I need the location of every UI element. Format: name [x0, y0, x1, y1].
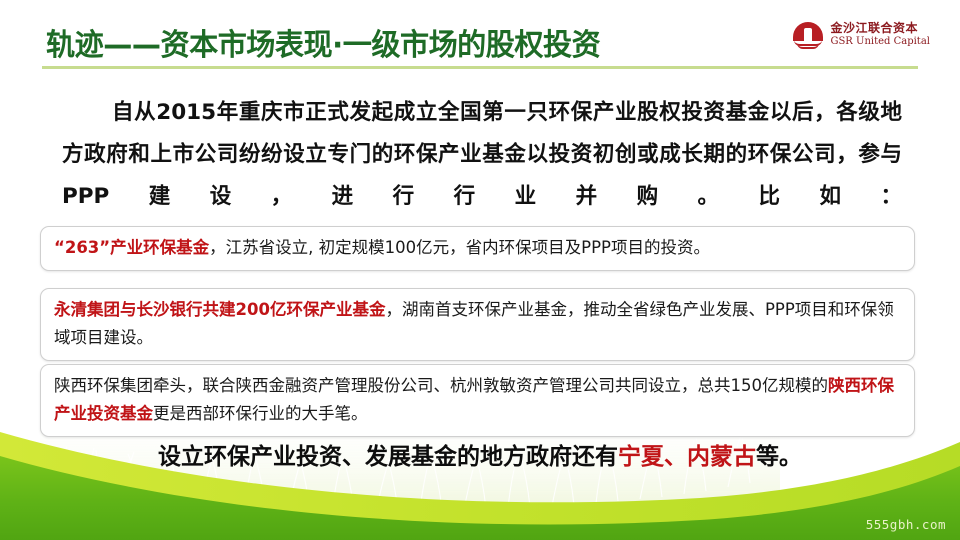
- slide-canvas: 555gbh.com 轨迹——资本市场表现·一级市场的股权投资 金沙江联合资本 …: [0, 0, 960, 540]
- logo-text-block: 金沙江联合资本 GSR United Capital: [830, 22, 930, 47]
- fact-box-3-text-0: 陕西环保集团牵头，联合陕西金融资产管理股份公司、杭州敦敏资产管理公司共同设立，总…: [54, 376, 828, 395]
- company-logo: 金沙江联合资本 GSR United Capital: [793, 22, 930, 48]
- conclusion-text-0: 设立环保产业投资、发展基金的地方政府还有: [158, 444, 618, 470]
- page-title: 轨迹——资本市场表现·一级市场的股权投资: [46, 20, 600, 64]
- fact-box-1-highlight-0: “263”产业环保基金: [54, 238, 209, 257]
- sunrise-wave-icon: [793, 22, 823, 48]
- watermark-text: 555gbh.com: [866, 517, 946, 532]
- conclusion-highlight-1: 宁夏、内蒙古: [618, 444, 756, 470]
- conclusion-text-2: 等。: [756, 444, 802, 470]
- fact-box: 永清集团与长沙银行共建200亿环保产业基金，湖南首支环保产业基金，推动全省绿色产…: [40, 288, 915, 361]
- fact-box-2-highlight-0: 永清集团与长沙银行共建200亿环保产业基金: [54, 300, 385, 319]
- logo-name-en: GSR United Capital: [830, 36, 930, 48]
- logo-name-cn: 金沙江联合资本: [830, 22, 930, 36]
- fact-box: “263”产业环保基金，江苏省设立, 初定规模100亿元，省内环保项目及PPP项…: [40, 226, 915, 271]
- title-divider: [42, 66, 918, 69]
- fact-box-3-text-2: 更是西部环保行业的大手笔。: [153, 404, 368, 423]
- fact-box: 陕西环保集团牵头，联合陕西金融资产管理股份公司、杭州敦敏资产管理公司共同设立，总…: [40, 364, 915, 437]
- intro-paragraph: 自从2015年重庆市正式发起成立全国第一只环保产业股权投资基金以后，各级地方政府…: [62, 92, 902, 218]
- conclusion-line: 设立环保产业投资、发展基金的地方政府还有宁夏、内蒙古等。: [0, 440, 960, 474]
- slide-header: 轨迹——资本市场表现·一级市场的股权投资 金沙江联合资本 GSR United …: [0, 0, 960, 72]
- fact-box-1-text-1: ，江苏省设立, 初定规模100亿元，省内环保项目及PPP项目的投资。: [209, 238, 710, 257]
